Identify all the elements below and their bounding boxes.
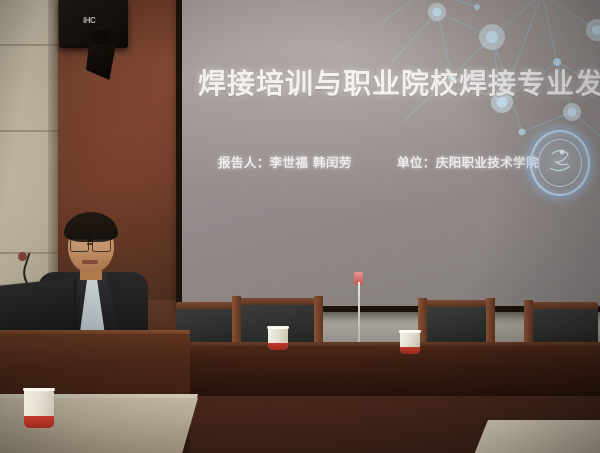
paper-cup — [400, 332, 420, 354]
slide-presenter-label: 报告人：李世福 韩闰劳 — [218, 152, 352, 171]
slide-unit-label: 单位：庆阳职业技术学院 — [397, 152, 539, 171]
cup-rim — [267, 326, 289, 329]
chair-backrest-top — [424, 300, 490, 307]
projection-screen: 焊接培训与职业院校焊接专业发展 报告人：李世福 韩闰劳 单位：庆阳职业技术学院 — [182, 0, 600, 306]
paper-cup — [24, 390, 54, 428]
school-seal-emblem — [530, 130, 590, 196]
paper-cup — [268, 328, 288, 350]
foreground-table-right — [469, 420, 600, 453]
chair-backrest-top — [238, 298, 320, 305]
conference-photo: iHC — [0, 0, 600, 453]
chair-backrest-top — [176, 302, 232, 309]
slide-title: 焊接培训与职业院校焊接专业发展 — [198, 68, 600, 100]
cup-red-band — [24, 416, 54, 428]
seal-glyph-icon — [532, 132, 588, 194]
conference-desk — [150, 346, 600, 396]
speaker-brand-label: iHC — [83, 16, 95, 25]
microphone-pole — [358, 282, 360, 348]
cup-rim — [399, 330, 421, 333]
podium-mic-head — [18, 252, 27, 261]
cup-red-band — [268, 343, 288, 350]
presenter-mouth — [82, 260, 98, 264]
eyeglasses-bridge — [87, 243, 93, 245]
eyeglasses-left-lens — [70, 239, 89, 252]
presenter-hair — [64, 212, 118, 242]
cup-red-band — [400, 347, 420, 354]
chair-backrest-top — [530, 302, 598, 309]
eyeglasses-right-lens — [92, 239, 111, 252]
cup-rim — [23, 388, 55, 391]
